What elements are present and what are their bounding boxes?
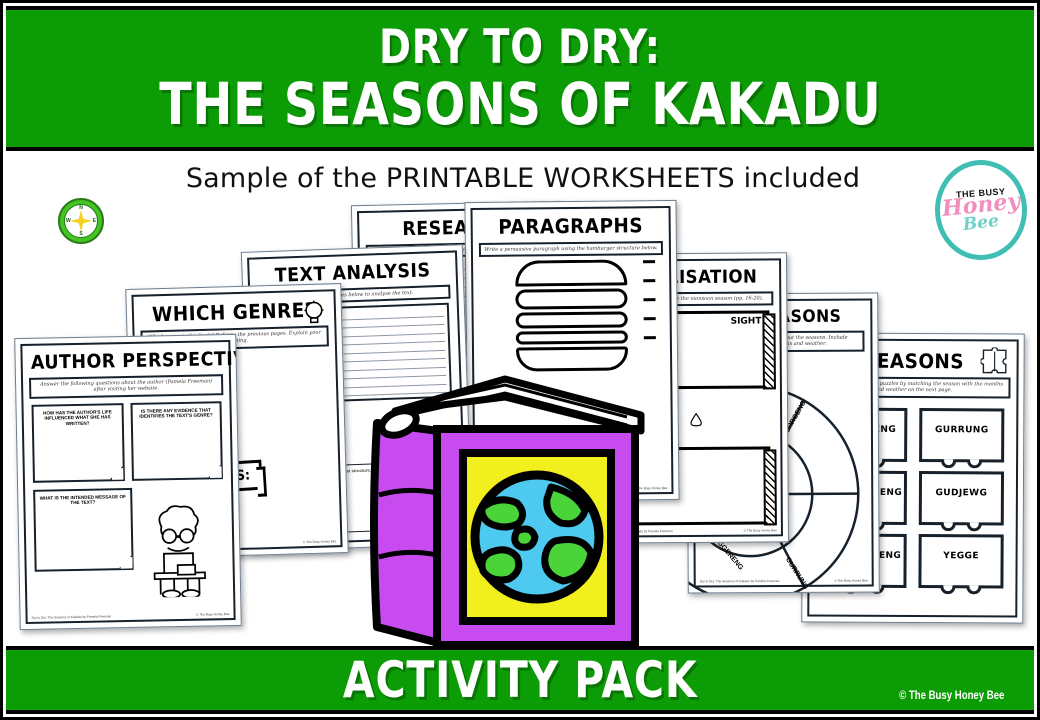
book-pages [395,379,641,431]
worksheet-footer-left: Dry to Dry: The Seasons of Kakadu by Pam… [32,614,112,620]
question-box[interactable]: WHAT IS THE INTENDED MESSAGE OF THE TEXT… [33,487,134,571]
burger-connector-dashes [643,260,656,355]
burger-layer-bun-bottom[interactable] [516,347,628,372]
puzzle-piece[interactable]: YEGGE [918,534,1003,588]
puzzle-knob [941,522,956,531]
student-at-desk-illustration [139,504,219,597]
compass-east-label: E [93,218,96,224]
logo-line-3: Bee [962,214,1000,234]
puzzle-piece[interactable]: GUDJEWG [919,471,1004,525]
dash [644,317,656,320]
brand-logo: THE BUSY Honey Bee [935,160,1027,260]
wheel-label: GURRUNG [784,556,810,591]
worksheet-title: TEXT ANALYSIS [258,259,448,288]
worksheet-instruction: Write a persuasive paragraph using the h… [479,241,663,257]
sense-label: SIGHT [731,317,762,327]
puzzle-piece-icon [981,347,1009,375]
worksheet-instruction: Answer the following questions about the… [29,374,223,398]
compass-rose-icon: N E S W [58,198,104,244]
lightbulb-icon [303,300,326,327]
question-grid: HOW HAS THE AUTHOR'S LIFE INFLUENCED WHA… [31,401,222,483]
burger-layer-cheese[interactable] [516,331,628,345]
compass-west-label: W [66,218,71,224]
poster-root: DRY TO DRY: THE SEASONS OF KAKADU Sample… [0,0,1040,720]
puzzle-piece[interactable]: GURRUNG [919,408,1004,462]
nose-icon [688,413,704,427]
puzzle-knob [941,459,956,468]
worksheet-footer-left: Dry to Dry: The Seasons of Kakadu by Pam… [700,579,780,583]
dash [643,298,655,301]
title-line-2: THE SEASONS OF KAKADU [159,75,881,133]
book-illustration [355,375,645,653]
puzzle-label: GUDJEWG [936,488,988,498]
dash [643,279,655,282]
compass-star [70,210,92,232]
book-spine [374,423,439,643]
worksheet-title: PARAGRAPHS [480,213,661,239]
hamburger-diagram [515,260,628,372]
worksheet-author-perspective[interactable]: AUTHOR PERSPECTIVE Answer the following … [14,334,242,630]
puzzle-knob [940,585,955,594]
worksheet-footer: Dry to Dry: The Seasons of Kakadu by Pam… [32,612,230,620]
puzzle-knob [967,459,982,468]
burger-layer-lettuce[interactable] [515,289,627,310]
burger-layer-bun-top[interactable] [515,260,627,287]
dash [643,260,655,263]
worksheet-footer-right: © The Busy Honey Bee [303,539,336,544]
compass-north-label: N [79,205,83,211]
subtitle-text: Sample of the PRINTABLE WORKSHEETS inclu… [3,163,1040,194]
worksheet-footer-right: © The Busy Honey Bee [834,579,867,583]
worksheet-footer-right: © The Busy Honey Bee [744,528,777,532]
burger-layer-tomato[interactable] [516,312,628,329]
footer-copyright: © The Busy Honey Bee [900,688,1005,702]
puzzle-knob [966,585,981,594]
sheet-border: AUTHOR PERSPECTIVE Answer the following … [20,340,235,624]
dash [644,336,656,339]
footer-title: ACTIVITY PACK [343,655,697,705]
puzzle-label: YEGGE [943,551,979,561]
title-banner: DRY TO DRY: THE SEASONS OF KAKADU [6,6,1034,151]
compass-inner: N E S W [64,204,98,238]
compass-south-label: S [79,231,82,237]
puzzle-knob [967,522,982,531]
question-box[interactable]: IS THERE ANY EVIDENCE THAT IDENTIFIES TH… [130,401,223,481]
question-box[interactable]: HOW HAS THE AUTHOR'S LIFE INFLUENCED WHA… [31,403,124,483]
title-line-1: DRY TO DRY: [379,24,661,71]
footer-banner: ACTIVITY PACK © The Busy Honey Bee [6,646,1034,714]
puzzle-label: GURRUNG [935,425,989,435]
worksheet-title: WHICH GENRE? [142,297,327,326]
worksheet-title: AUTHOR PERSPECTIVE [31,348,221,374]
worksheet-footer-right: © The Busy Honey Bee [196,612,229,617]
